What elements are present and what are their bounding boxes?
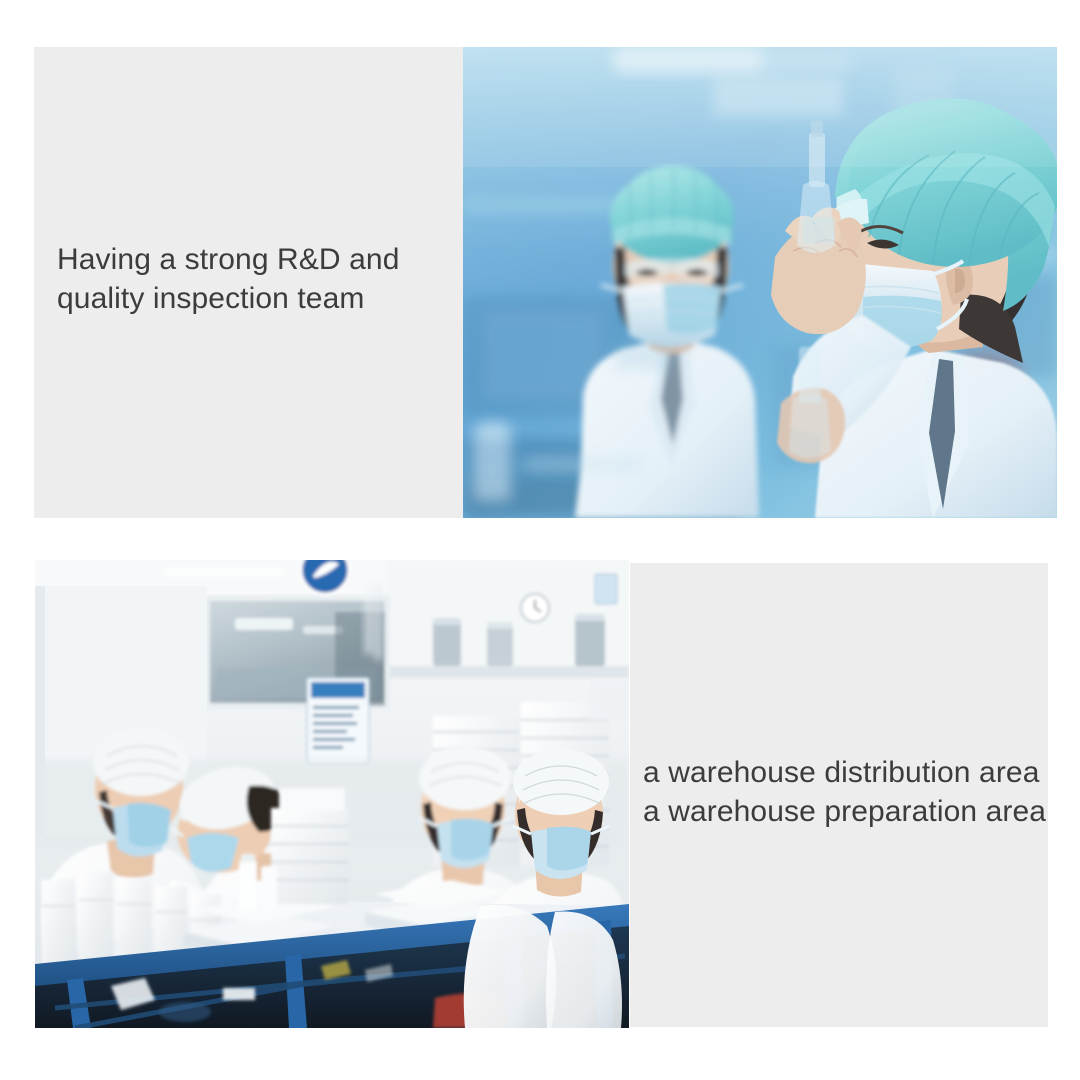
bottom-section: a warehouse distribution area a warehous… bbox=[0, 540, 1080, 1080]
lab-photo-svg bbox=[463, 47, 1057, 518]
top-section: Having a strong R&D and quality inspecti… bbox=[0, 0, 1080, 540]
rd-quality-inspection-lab-photo bbox=[463, 47, 1057, 518]
warehouse-packaging-area-photo bbox=[35, 560, 629, 1028]
bottom-caption-text: a warehouse distribution area a warehous… bbox=[643, 753, 1053, 831]
warehouse-photo-svg bbox=[35, 560, 629, 1028]
top-caption-text: Having a strong R&D and quality inspecti… bbox=[57, 240, 457, 318]
